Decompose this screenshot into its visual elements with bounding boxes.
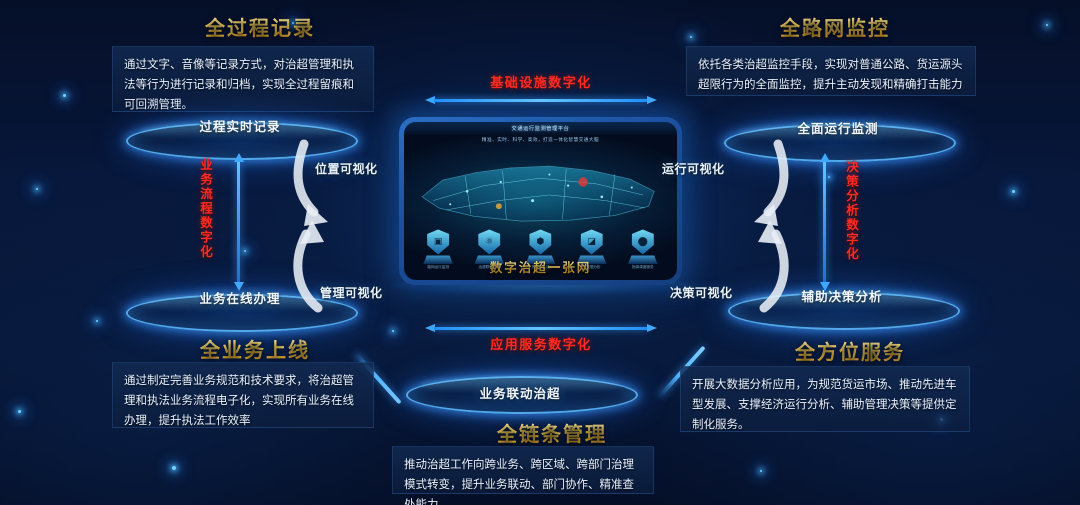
chart-icon: ◪: [581, 229, 603, 254]
section-title-bottom-center: 全链条管理: [497, 418, 607, 447]
particle-dot: [1046, 24, 1048, 26]
section-description-bottom-left: 通过制定完善业务规范和技术要求，将治超管理和执法业务流程电子化，实现所有业务在线…: [112, 362, 374, 428]
section-description-top-right: 依托各类治超监控手段，实现对普通公路、货运源头超限行为的全面监控，提升主动发现和…: [686, 46, 976, 96]
section-description-top-left: 通过文字、音像等记录方式，对治超管理和执法等行为进行记录和归档，实现全过程留痕和…: [112, 46, 374, 112]
section-title-top-left: 全过程记录: [205, 12, 315, 41]
arrow-head-right: [647, 96, 657, 104]
particle-dot: [828, 176, 830, 178]
arrow-bar: [434, 327, 648, 330]
arrow-bar: [434, 99, 648, 102]
section-description-bottom-center: 推动治超工作向跨业务、跨区域、跨部门治理模式转变，提升业务联动、部门协作、精准查…: [392, 446, 654, 494]
vis-label-top-right: 运行可视化: [662, 160, 725, 177]
arrow-bottom: [425, 324, 657, 332]
ring-label-bottom-right: 辅助决策分析: [728, 286, 956, 305]
ring-label-top-left: 过程实时记录: [126, 116, 354, 135]
particle-dot: [63, 94, 66, 97]
arrow-head-right: [647, 324, 657, 332]
vertical-label-left: 业务流程数字化: [196, 158, 215, 260]
particle-dot: [18, 410, 21, 413]
vis-label-bottom-right: 决策可视化: [670, 284, 733, 301]
particle-dot: [760, 470, 762, 472]
vertical-connector-left: [237, 162, 240, 282]
vertical-label-right: 决策分析数字化: [842, 160, 861, 262]
particle-dot: [36, 188, 38, 190]
particle-dot: [244, 250, 246, 252]
screen-title: 交通运行监测管理平台: [512, 125, 570, 132]
network-icon: ⚛: [478, 229, 500, 254]
section-title-top-right: 全路网监控: [780, 12, 890, 41]
vis-label-top-left: 位置可视化: [315, 160, 378, 177]
infographic-canvas: 全过程记录 通过文字、音像等记录方式，对治超管理和执法等行为进行记录和归档，实现…: [0, 0, 1080, 505]
ring-label-bottom-center: 业务联动治超: [406, 383, 634, 402]
vertical-connector-right: [823, 162, 826, 282]
particle-dot: [172, 466, 176, 470]
shield-icon: ⬢: [529, 229, 551, 254]
vis-label-bottom-left: 管理可视化: [320, 284, 383, 301]
device-screen: 交通运行监测管理平台 精准、实时、科学、高效，打造一体化智慧交通大脑: [404, 122, 677, 280]
map-visualization: [409, 154, 671, 227]
arrow-label-bottom: 应用服务数字化: [425, 334, 657, 353]
arrow-head-down: [234, 282, 244, 291]
central-device: 交通运行监测管理平台 精准、实时、科学、高效，打造一体化智慧交通大脑: [399, 117, 682, 285]
microphone-icon: ⬤: [632, 229, 654, 254]
particle-dot: [690, 36, 692, 38]
particle-dot: [1012, 190, 1015, 193]
section-description-bottom-right: 开展大数据分析应用，为规范货运市场、推动先进车型发展、支撑经济运行分析、辅助管理…: [680, 366, 970, 432]
section-title-bottom-right: 全方位服务: [795, 336, 905, 365]
particle-dot: [96, 320, 98, 322]
image-icon: ▣: [427, 229, 449, 254]
arrow-head-up: [234, 153, 244, 162]
screen-topbar: 交通运行监测管理平台: [404, 122, 677, 135]
screen-subtitle: 精准、实时、科学、高效，打造一体化智慧交通大脑: [404, 137, 677, 143]
arrow-top: [425, 96, 657, 104]
particle-dot: [392, 330, 394, 332]
arrow-head-down: [820, 282, 830, 291]
arrow-head-up: [820, 153, 830, 162]
ring-label-top-right: 全面运行监测: [724, 118, 952, 137]
device-footer-label: 数字治超一张网: [404, 257, 677, 276]
arrow-label-top: 基础设施数字化: [425, 72, 657, 91]
section-title-bottom-left: 全业务上线: [200, 334, 310, 363]
